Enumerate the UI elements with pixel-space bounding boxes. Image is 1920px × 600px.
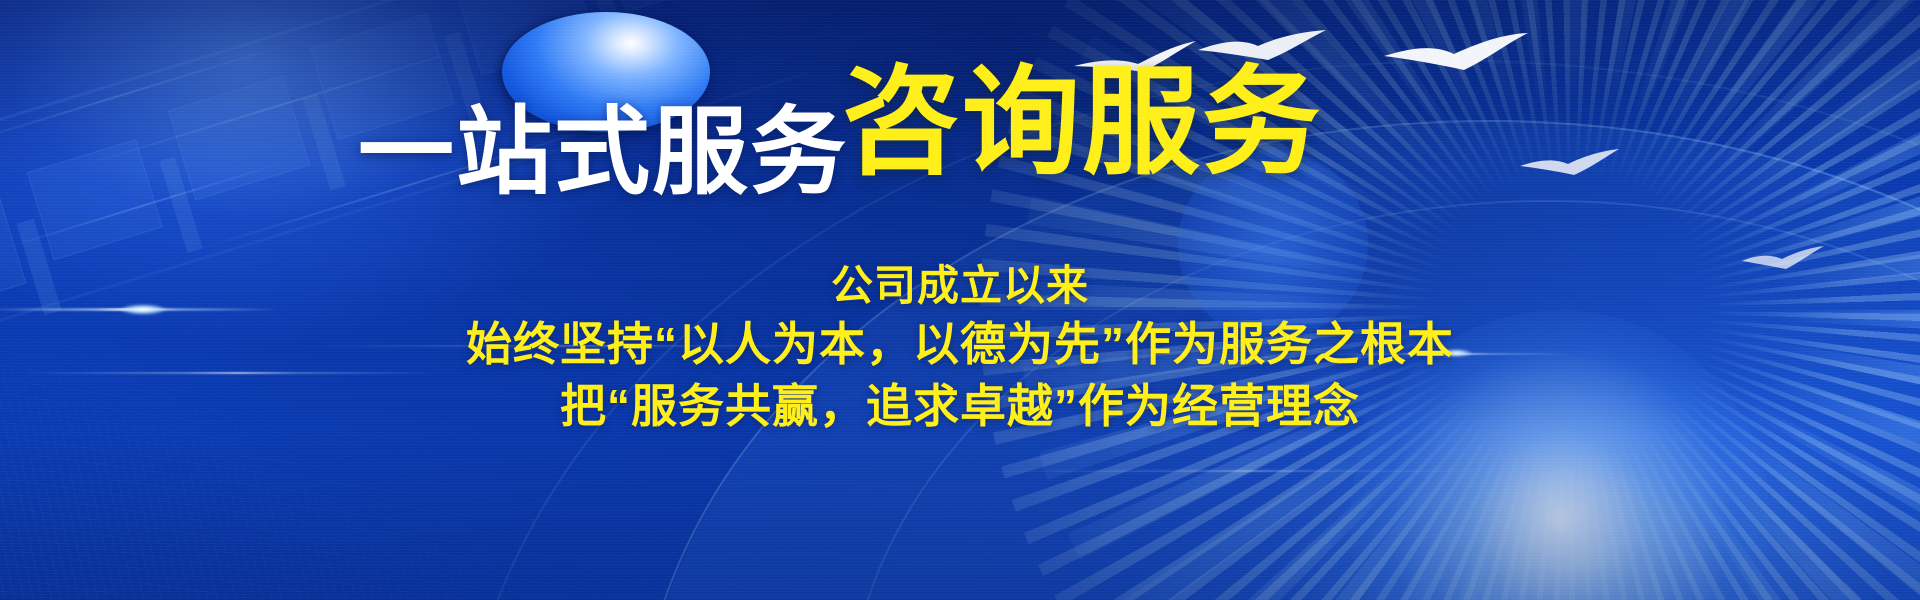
lens-flare-streak-decor	[300, 345, 860, 347]
seagull-icon	[1740, 245, 1826, 273]
ghost-circle-decor	[1178, 150, 1368, 340]
seagull-icon	[1382, 32, 1532, 84]
lens-flare-streak-decor	[980, 470, 1500, 472]
lens-flare-dot-decor	[120, 304, 166, 315]
lens-flare-streak-decor	[20, 372, 440, 374]
promotional-banner: 一站式服务咨询服务 公司成立以来 始终坚持“以人为本，以德为先”作为服务之根本 …	[0, 0, 1920, 600]
background-vignette	[0, 0, 1920, 600]
seagull-icon	[1196, 28, 1332, 72]
seagull-icon	[1518, 148, 1622, 182]
seagull-icon	[1072, 38, 1202, 80]
lens-flare-dot-decor	[1438, 349, 1472, 357]
glossy-orb-decor	[502, 12, 710, 132]
